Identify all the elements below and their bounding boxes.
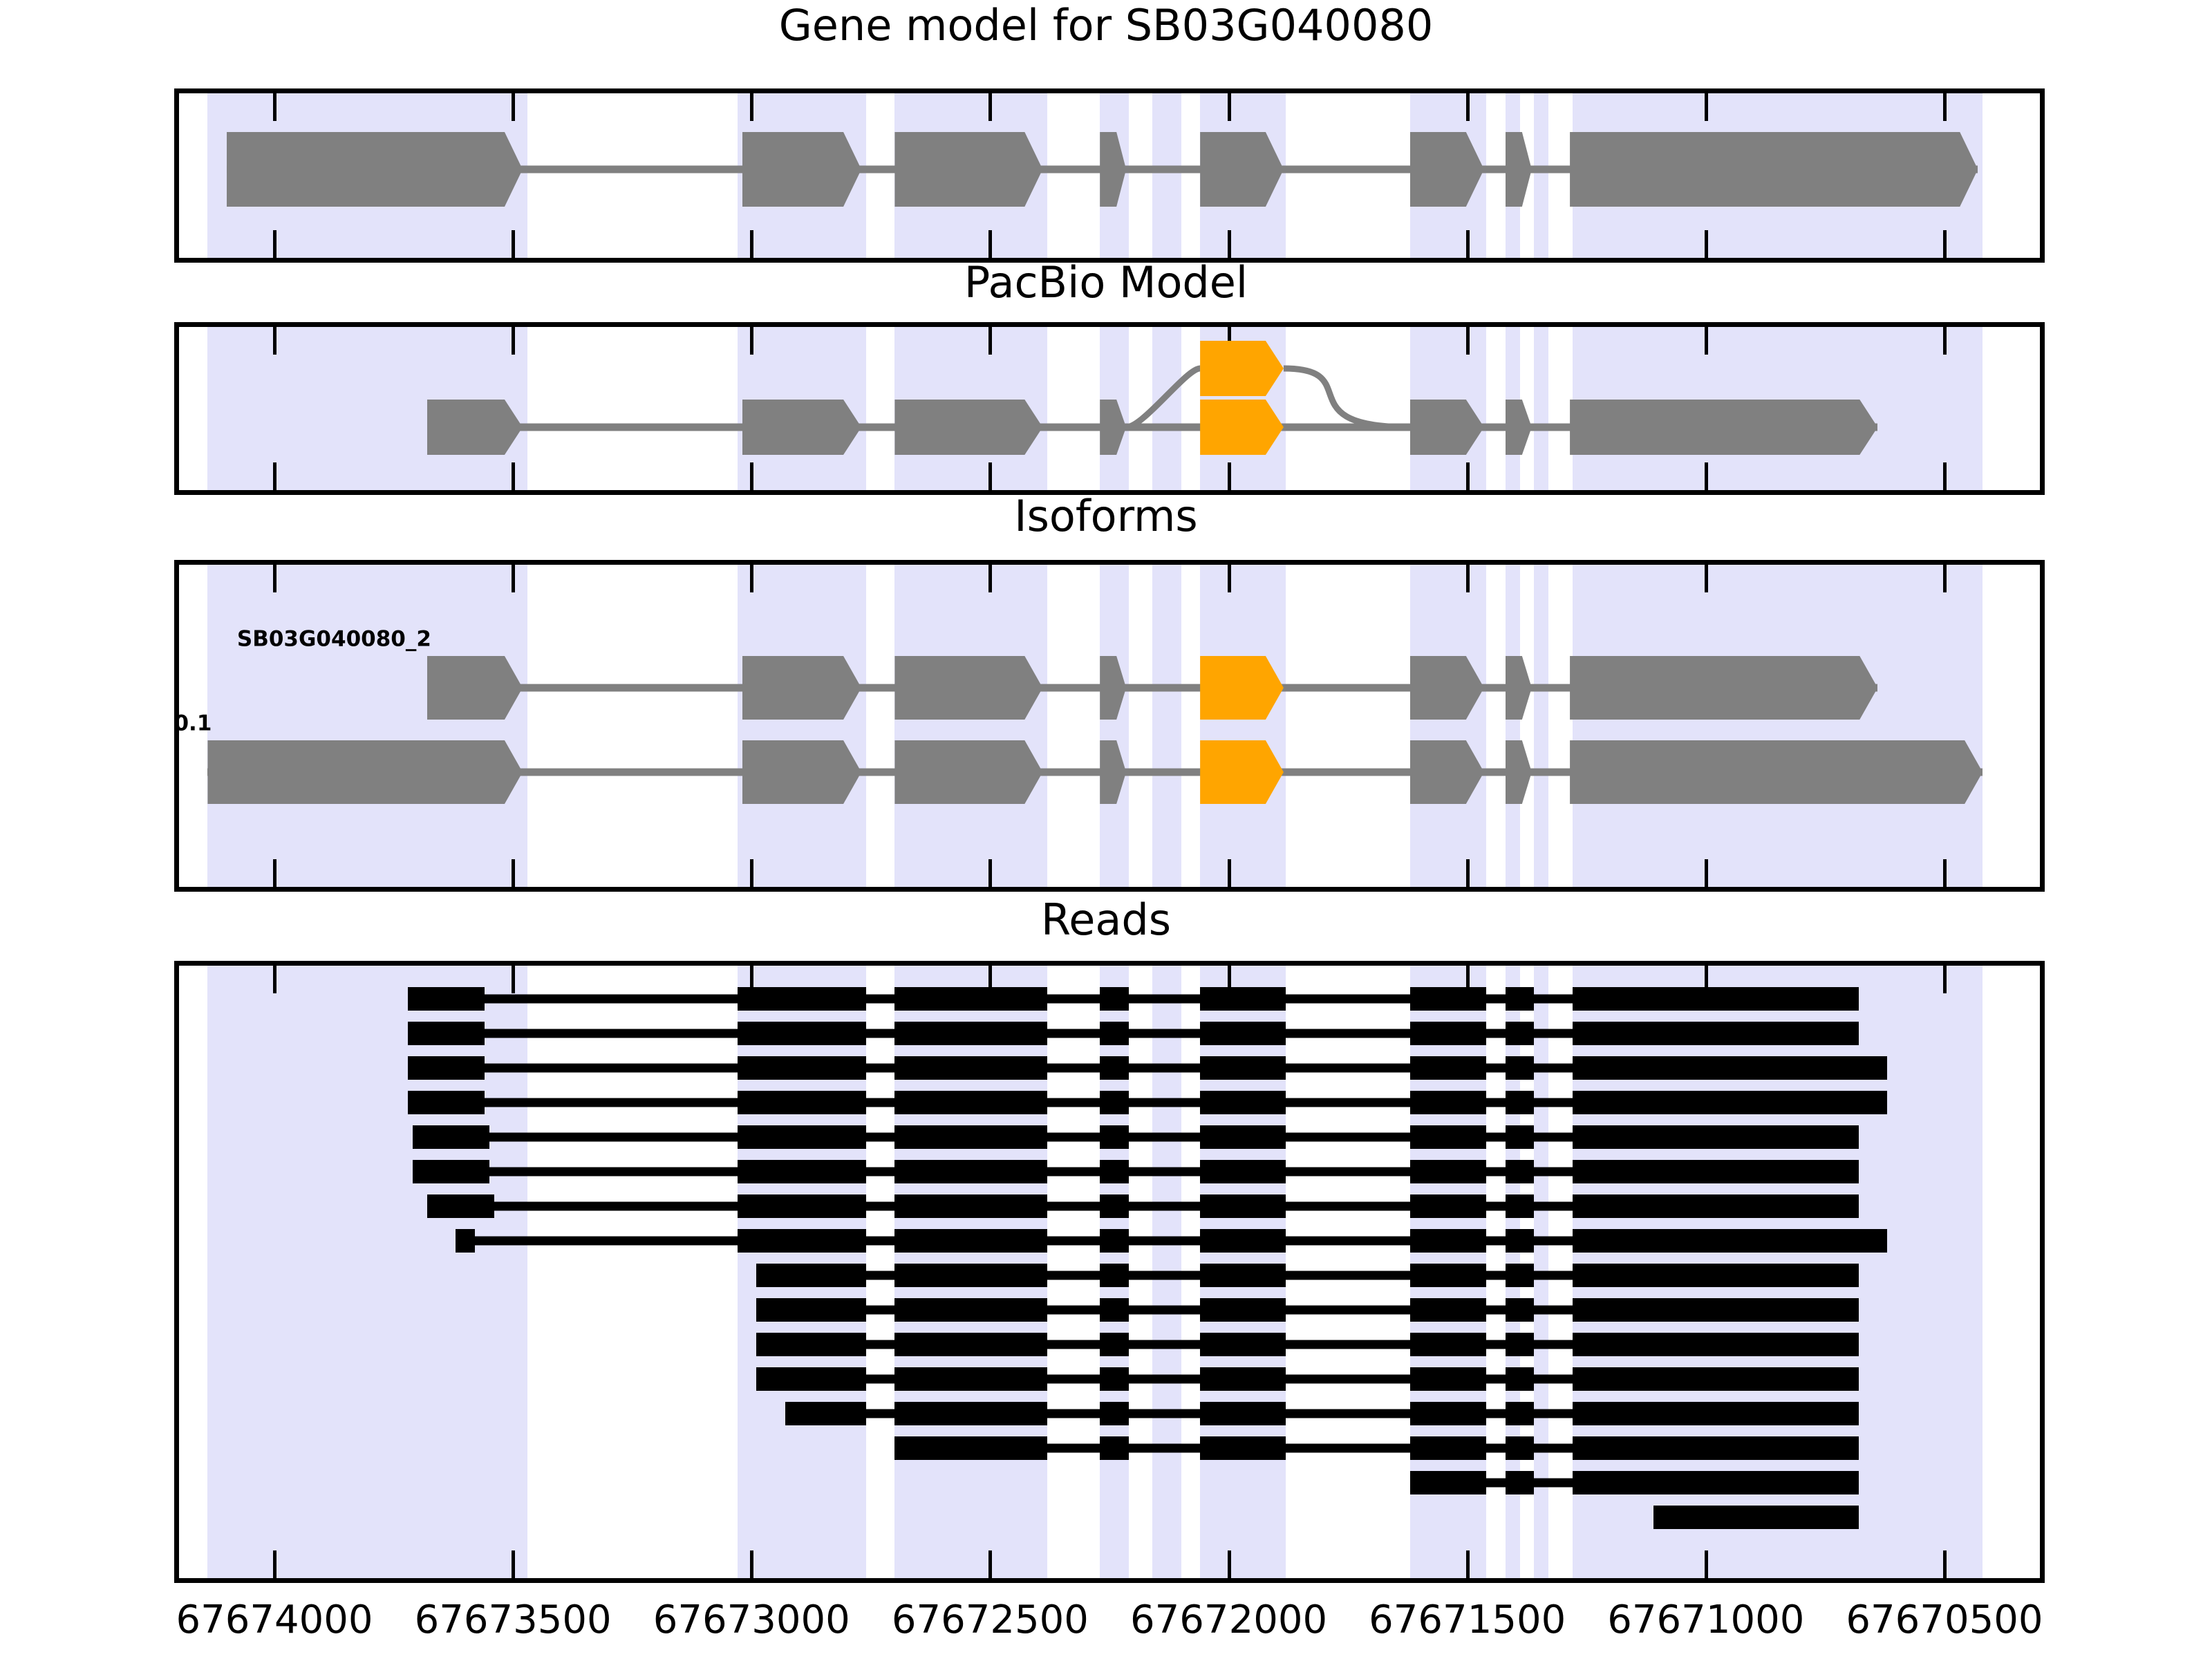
exon-block — [894, 1056, 1047, 1080]
exon-shading-band — [1152, 327, 1181, 490]
x-axis-tick-label: 67670500 — [1846, 1601, 2043, 1640]
exon-block — [1100, 1436, 1128, 1460]
exon-block — [1200, 1298, 1286, 1322]
axis-tick-mark — [750, 93, 753, 121]
axis-tick-mark — [750, 565, 753, 592]
axis-tick-mark — [1466, 230, 1470, 258]
axis-tick-mark — [988, 93, 992, 121]
exon-block — [738, 1229, 866, 1253]
axis-tick-mark — [750, 327, 753, 355]
exon-block — [427, 1194, 494, 1218]
exon-block — [1506, 1333, 1534, 1356]
exon-block — [408, 1022, 484, 1045]
exon-shading-band — [1534, 327, 1548, 490]
exon-block — [1506, 132, 1532, 207]
axis-tick-mark — [273, 565, 276, 592]
exon-block — [1200, 1229, 1286, 1253]
exon-block — [1653, 1506, 1859, 1529]
exon-block — [1573, 1402, 1859, 1425]
axis-tick-mark — [1943, 462, 1947, 490]
exon-block — [894, 1160, 1047, 1183]
exon-block — [1410, 1436, 1486, 1460]
exon-block — [456, 1229, 475, 1253]
exon-block — [1200, 1022, 1286, 1045]
exon-block — [1573, 1229, 1888, 1253]
exon-shading-band — [1200, 565, 1286, 887]
axis-tick-mark — [1466, 859, 1470, 887]
x-axis-tick-label: 67674000 — [176, 1601, 373, 1640]
axis-tick-mark — [512, 230, 515, 258]
exon-shading-band — [1573, 565, 1983, 887]
axis-tick-mark — [1943, 859, 1947, 887]
exon-block — [738, 1125, 866, 1149]
exon-block — [1410, 1402, 1486, 1425]
gene-browser-figure: Gene model for SB03G040080 PacBio Model … — [0, 0, 2212, 1659]
axis-tick-mark — [1705, 93, 1708, 121]
exon-block — [1100, 1264, 1128, 1287]
axis-tick-mark — [988, 462, 992, 490]
exon-block — [1506, 656, 1532, 720]
x-axis-tick-label: 67671500 — [1369, 1601, 1566, 1640]
exon-shading-band — [1152, 565, 1181, 887]
exon-shading-band — [1152, 93, 1181, 258]
exon-block — [1573, 1194, 1859, 1218]
exon-block — [1573, 1091, 1888, 1114]
exon-block — [1506, 1264, 1534, 1287]
axis-tick-mark — [1228, 565, 1231, 592]
exon-block — [1200, 1194, 1286, 1218]
exon-block — [1410, 1194, 1486, 1218]
exon-block — [738, 1056, 866, 1080]
exon-block — [894, 1333, 1047, 1356]
exon-block — [1506, 987, 1534, 1011]
exon-block — [1506, 1436, 1534, 1460]
exon-block — [1410, 1125, 1486, 1149]
panel-title-reads: Reads — [0, 899, 2212, 941]
exon-block — [894, 1436, 1047, 1460]
axis-tick-mark — [512, 462, 515, 490]
axis-tick-mark — [1228, 93, 1231, 121]
exon-block — [427, 656, 523, 720]
exon-block — [413, 1125, 489, 1149]
exon-block — [894, 740, 1042, 804]
axis-tick-mark — [1705, 230, 1708, 258]
exon-block — [1506, 1091, 1534, 1114]
axis-tick-mark — [512, 966, 515, 993]
exon-block — [1100, 1229, 1128, 1253]
exon-block — [738, 1022, 866, 1045]
exon-block — [894, 1091, 1047, 1114]
isoform-label: SB03G040080.1 — [174, 713, 212, 735]
axis-tick-mark — [1705, 565, 1708, 592]
axis-tick-mark — [512, 565, 515, 592]
axes-gene-model — [174, 88, 2045, 263]
exon-block — [1100, 987, 1128, 1011]
axis-tick-mark — [1228, 859, 1231, 887]
exon-block — [1410, 1264, 1486, 1287]
exon-block — [1573, 987, 1859, 1011]
axes-reads — [174, 961, 2045, 1583]
panel-title-pacbio-model: PacBio Model — [0, 261, 2212, 304]
axes-isoforms: SB03G040080_2SB03G040080.1 — [174, 560, 2045, 892]
axis-tick-mark — [988, 859, 992, 887]
exon-block — [1573, 1367, 1859, 1391]
exon-block — [1100, 1402, 1128, 1425]
panel-title-gene-model: Gene model for SB03G040080 — [0, 4, 2212, 47]
axis-tick-mark — [1705, 327, 1708, 355]
axis-tick-mark — [988, 230, 992, 258]
axis-tick-mark — [1228, 462, 1231, 490]
x-axis-tick-label: 67672500 — [892, 1601, 1089, 1640]
axis-tick-mark — [750, 1550, 753, 1578]
exon-block — [408, 987, 484, 1011]
exon-block — [1506, 1298, 1534, 1322]
x-axis-tick-label: 67673000 — [653, 1601, 850, 1640]
axis-tick-mark — [512, 1550, 515, 1578]
exon-shading-band — [1100, 565, 1128, 887]
exon-block — [894, 1125, 1047, 1149]
exon-shading-band — [738, 565, 866, 887]
exon-block — [227, 132, 523, 207]
axis-tick-mark — [1943, 565, 1947, 592]
axes-pacbio-model — [174, 322, 2045, 495]
axis-tick-mark — [1705, 1550, 1708, 1578]
exon-block — [1410, 1022, 1486, 1045]
axis-tick-mark — [1466, 462, 1470, 490]
axis-tick-mark — [988, 1550, 992, 1578]
exon-block — [1506, 1125, 1534, 1149]
axis-tick-mark — [750, 230, 753, 258]
exon-block — [894, 987, 1047, 1011]
exon-block — [1573, 1125, 1859, 1149]
exon-block — [1200, 1264, 1286, 1287]
exon-block — [1573, 1333, 1859, 1356]
exon-block — [1410, 1471, 1486, 1494]
axis-tick-mark — [1228, 230, 1231, 258]
exon-block — [1100, 1333, 1128, 1356]
axis-tick-mark — [1943, 230, 1947, 258]
exon-block — [1410, 1229, 1486, 1253]
exon-shading-band — [1534, 93, 1548, 258]
axis-tick-mark — [1943, 327, 1947, 355]
axis-tick-mark — [1943, 1550, 1947, 1578]
exon-block — [756, 1264, 866, 1287]
panel-title-isoforms: Isoforms — [0, 495, 2212, 538]
exon-block — [1100, 1091, 1128, 1114]
exon-shading-band — [207, 565, 527, 887]
exon-block — [1573, 1471, 1859, 1494]
exon-block — [1573, 1022, 1859, 1045]
exon-block — [1200, 987, 1286, 1011]
exon-block — [1200, 1091, 1286, 1114]
exon-shading-band — [1534, 565, 1548, 887]
axis-tick-mark — [1705, 859, 1708, 887]
exon-block — [894, 132, 1042, 207]
x-axis-tick-label: 67671000 — [1607, 1601, 1804, 1640]
exon-block — [1570, 740, 1983, 804]
axis-tick-mark — [273, 230, 276, 258]
exon-block — [894, 1229, 1047, 1253]
exon-block — [1506, 400, 1532, 455]
exon-block — [738, 1160, 866, 1183]
exon-block — [756, 1298, 866, 1322]
exon-block — [1570, 656, 1877, 720]
exon-block — [1200, 1436, 1286, 1460]
exon-block — [756, 1367, 866, 1391]
exon-block — [894, 656, 1042, 720]
exon-block — [1506, 1056, 1534, 1080]
exon-block — [1100, 1298, 1128, 1322]
exon-block — [1570, 132, 1978, 207]
exon-block — [1200, 1367, 1286, 1391]
exon-block — [1506, 1471, 1534, 1494]
exon-block — [894, 1402, 1047, 1425]
axis-tick-mark — [512, 327, 515, 355]
exon-block — [1570, 400, 1877, 455]
exon-block — [1410, 1160, 1486, 1183]
axis-tick-mark — [1466, 327, 1470, 355]
exon-block — [1506, 1160, 1534, 1183]
axis-tick-mark — [273, 859, 276, 887]
axis-tick-mark — [1943, 93, 1947, 121]
axis-tick-mark — [1466, 93, 1470, 121]
exon-block — [1100, 1160, 1128, 1183]
exon-block — [1573, 1436, 1859, 1460]
x-axis-tick-label: 67672000 — [1130, 1601, 1327, 1640]
exon-block — [1200, 1402, 1286, 1425]
axis-tick-mark — [750, 462, 753, 490]
axis-tick-mark — [1943, 966, 1947, 993]
exon-block — [1410, 1091, 1486, 1114]
axis-tick-mark — [750, 859, 753, 887]
exon-block — [742, 132, 862, 207]
exon-block — [1100, 1022, 1128, 1045]
exon-block — [738, 1194, 866, 1218]
exon-block — [1100, 1125, 1128, 1149]
axis-tick-mark — [1466, 1550, 1470, 1578]
exon-block — [1410, 1298, 1486, 1322]
exon-block — [894, 400, 1042, 455]
exon-shading-band — [1410, 565, 1486, 887]
exon-block — [1506, 1194, 1534, 1218]
exon-block — [1506, 1229, 1534, 1253]
exon-block — [742, 400, 862, 455]
exon-block — [1573, 1160, 1859, 1183]
exon-block — [427, 400, 523, 455]
axis-tick-mark — [1466, 565, 1470, 592]
isoform-label: SB03G040080_2 — [237, 629, 431, 650]
exon-block — [894, 1194, 1047, 1218]
exon-block — [785, 1402, 866, 1425]
exon-block — [1573, 1056, 1888, 1080]
axis-tick-mark — [512, 93, 515, 121]
exon-block — [408, 1091, 484, 1114]
axis-tick-mark — [988, 327, 992, 355]
exon-block — [1200, 1125, 1286, 1149]
exon-block — [894, 1022, 1047, 1045]
exon-block — [207, 740, 523, 804]
axis-tick-mark — [988, 565, 992, 592]
exon-block — [1200, 1160, 1286, 1183]
axis-tick-mark — [273, 462, 276, 490]
exon-block — [1410, 987, 1486, 1011]
exon-block — [1410, 1333, 1486, 1356]
exon-block — [1200, 1056, 1286, 1080]
exon-block — [1573, 1298, 1859, 1322]
exon-block — [1506, 1367, 1534, 1391]
exon-block — [1200, 1333, 1286, 1356]
exon-shading-band — [894, 565, 1047, 887]
axis-tick-mark — [1228, 1550, 1231, 1578]
exon-block — [894, 1367, 1047, 1391]
axis-tick-mark — [273, 327, 276, 355]
exon-block — [1506, 1402, 1534, 1425]
x-axis-tick-label: 67673500 — [415, 1601, 612, 1640]
axis-tick-mark — [512, 859, 515, 887]
exon-block — [1573, 1264, 1859, 1287]
axis-tick-mark — [273, 93, 276, 121]
exon-block — [894, 1264, 1047, 1287]
exon-block — [408, 1056, 484, 1080]
axis-tick-mark — [273, 1550, 276, 1578]
axis-tick-mark — [1705, 462, 1708, 490]
exon-block — [1100, 1194, 1128, 1218]
exon-block — [1410, 1056, 1486, 1080]
exon-block — [738, 987, 866, 1011]
exon-block — [742, 740, 862, 804]
exon-block — [738, 1091, 866, 1114]
exon-shading-band — [1506, 565, 1520, 887]
exon-block — [1506, 1022, 1534, 1045]
exon-block — [1506, 740, 1532, 804]
exon-block — [1100, 1056, 1128, 1080]
exon-block — [756, 1333, 866, 1356]
exon-block — [894, 1298, 1047, 1322]
exon-block — [413, 1160, 489, 1183]
axis-tick-mark — [273, 966, 276, 993]
exon-block — [1410, 1367, 1486, 1391]
exon-block — [1100, 1367, 1128, 1391]
exon-block — [742, 656, 862, 720]
